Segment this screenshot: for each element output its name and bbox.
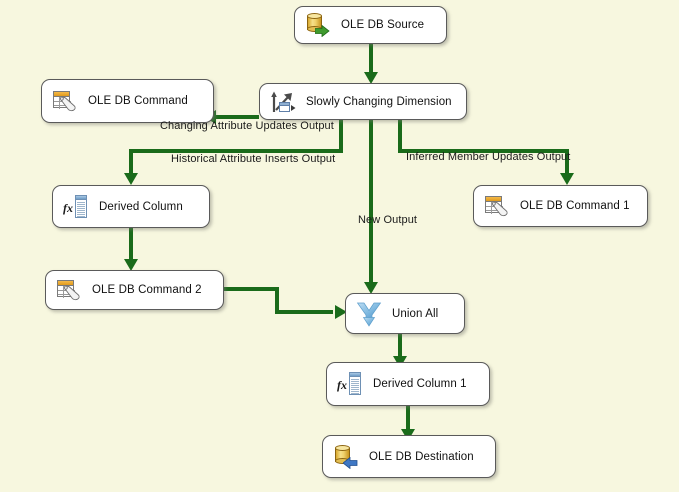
node-label-derived-column-1: Derived Column 1 [373, 378, 467, 390]
node-ole-db-destination[interactable]: OLE DB Destination [322, 435, 496, 478]
edge-label-historical-attribute-inserts-output: Historical Attribute Inserts Output [171, 153, 335, 165]
node-ole-db-command-1[interactable]: OLE DB Command 1 [473, 185, 648, 227]
union-all-icon [356, 301, 382, 327]
fx-glyph: fx [337, 379, 347, 391]
edge-label-new-output: New Output [358, 214, 417, 226]
node-ole-db-command[interactable]: OLE DB Command [41, 79, 214, 123]
edge-label-changing-attribute-updates-output: Changing Attribute Updates Output [160, 120, 334, 132]
ole-db-source-icon [305, 12, 331, 38]
connector-layer [0, 0, 679, 492]
scroll-icon [491, 201, 509, 217]
node-slowly-changing-dimension[interactable]: Slowly Changing Dimension [259, 83, 467, 120]
node-ole-db-command-2[interactable]: OLE DB Command 2 [45, 270, 224, 310]
green-arrow-out-icon [315, 25, 330, 37]
ole-db-command-icon [52, 88, 78, 114]
node-union-all[interactable]: Union All [345, 293, 465, 334]
node-label-derived-column: Derived Column [99, 201, 183, 213]
node-derived-column-1[interactable]: fx Derived Column 1 [326, 362, 490, 406]
node-label-ole-db-destination: OLE DB Destination [369, 451, 474, 463]
node-label-ole-db-command: OLE DB Command [88, 95, 188, 107]
node-label-ole-db-source: OLE DB Source [341, 19, 424, 31]
arrowhead-derived-column-input [124, 173, 138, 185]
wire-ole-db-command-2-to-union-all [224, 289, 333, 312]
data-flow-canvas[interactable]: Changing Attribute Updates Output Histor… [0, 0, 679, 492]
scroll-icon [63, 285, 81, 301]
slowly-changing-dimension-icon [270, 89, 296, 115]
node-label-union-all: Union All [392, 308, 438, 320]
node-ole-db-source[interactable]: OLE DB Source [294, 6, 447, 44]
edge-label-inferred-member-updates-output: Inferred Member Updates Output [406, 151, 570, 163]
scroll-icon [59, 96, 77, 112]
ole-db-destination-icon [333, 444, 359, 470]
wire-scd-to-ole-db-command-1 [400, 120, 567, 175]
node-label-ole-db-command-2: OLE DB Command 2 [92, 284, 202, 296]
ole-db-command-icon [56, 277, 82, 303]
fx-glyph: fx [63, 202, 73, 214]
arrowhead-ole-db-command-1-input [560, 173, 574, 185]
node-derived-column[interactable]: fx Derived Column [52, 185, 210, 228]
derived-column-icon: fx [337, 371, 363, 397]
union-merge-arrow-icon [356, 301, 382, 327]
ole-db-command-icon [484, 193, 510, 219]
node-label-slowly-changing-dimension: Slowly Changing Dimension [306, 96, 452, 108]
node-label-ole-db-command-1: OLE DB Command 1 [520, 200, 630, 212]
blue-arrow-in-icon [343, 457, 358, 469]
derived-column-icon: fx [63, 194, 89, 220]
